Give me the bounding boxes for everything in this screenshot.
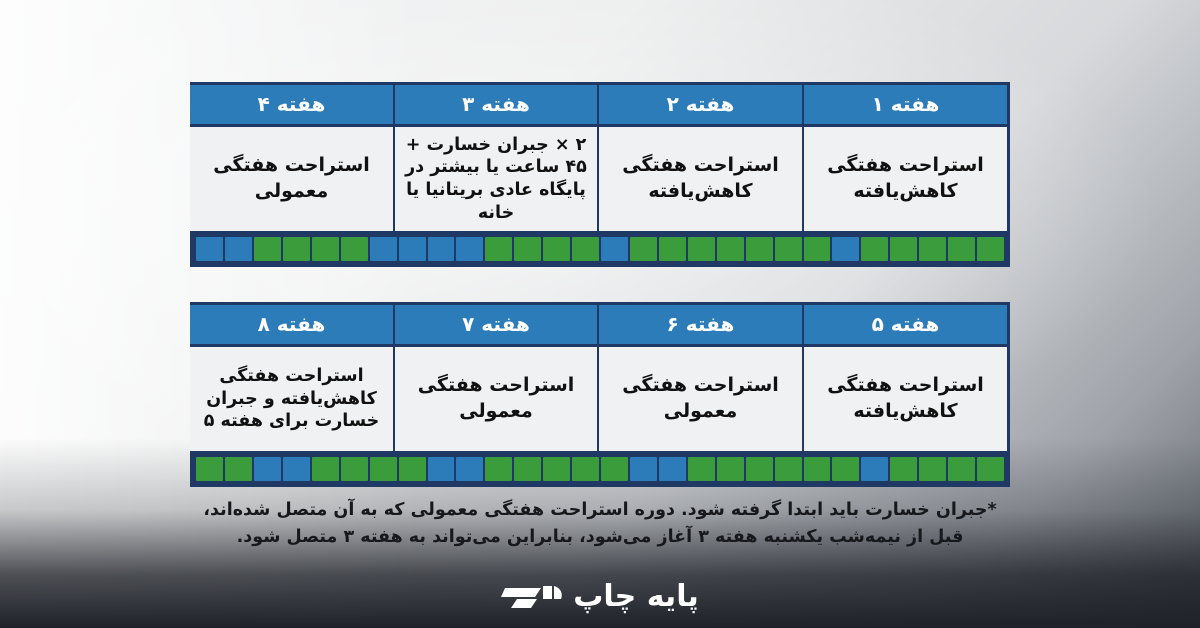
day-cell-work: [485, 237, 512, 261]
week-column-1: هفته ۱ استراحت هفتگی کاهش‌یافته: [802, 85, 1007, 231]
day-cell-rest: [283, 457, 310, 481]
day-cell-work: [543, 457, 570, 481]
day-cell-rest: [861, 457, 888, 481]
day-cell-work: [196, 457, 223, 481]
day-cell-rest: [399, 237, 426, 261]
week-header-8: هفته ۸: [190, 305, 393, 347]
week-header-5: هفته ۵: [804, 305, 1007, 347]
day-cell-work: [775, 457, 802, 481]
week-body-3: ۲ × جبران خسارت + ۴۵ ساعت یا بیشتر در پا…: [395, 127, 597, 231]
day-cell-work: [283, 237, 310, 261]
day-cell-work: [832, 457, 859, 481]
week-body-2: استراحت هفتگی کاهش‌یافته: [599, 127, 802, 231]
day-cell-work: [514, 237, 541, 261]
footnote-text: *جبران خسارت باید ابتدا گرفته شود. دوره …: [200, 497, 1000, 551]
week-column-7: هفته ۷ استراحت هفتگی معمولی: [393, 305, 597, 451]
week-body-1: استراحت هفتگی کاهش‌یافته: [804, 127, 1007, 231]
day-cell-rest: [196, 237, 223, 261]
day-cell-work: [948, 457, 975, 481]
week-header-1: هفته ۱: [804, 85, 1007, 127]
day-cell-rest: [225, 237, 252, 261]
day-cell-work: [514, 457, 541, 481]
weeks-1-4-table: هفته ۱ استراحت هفتگی کاهش‌یافته هفته ۲ ا…: [190, 82, 1010, 267]
day-cell-work: [341, 237, 368, 261]
day-cell-work: [601, 457, 628, 481]
day-cell-work: [746, 237, 773, 261]
week-header-6: هفته ۶: [599, 305, 802, 347]
day-cell-work: [775, 237, 802, 261]
week-column-3: هفته ۳ ۲ × جبران خسارت + ۴۵ ساعت یا بیشت…: [393, 85, 597, 231]
day-cell-work: [977, 237, 1004, 261]
day-cell-work: [948, 237, 975, 261]
day-cell-work: [341, 457, 368, 481]
day-cell-work: [746, 457, 773, 481]
day-cell-work: [977, 457, 1004, 481]
day-cell-work: [312, 237, 339, 261]
day-cell-rest: [428, 237, 455, 261]
day-strip-weeks-5-8: [193, 451, 1007, 484]
logo-text: پایه چاپ: [573, 582, 698, 612]
speed-swoosh-icon: [501, 582, 563, 612]
day-cell-work: [370, 457, 397, 481]
brand-logo: پایه چاپ: [0, 582, 1200, 612]
day-cell-work: [572, 457, 599, 481]
day-cell-rest: [832, 237, 859, 261]
week-column-5: هفته ۵ استراحت هفتگی کاهش‌یافته: [802, 305, 1007, 451]
week-body-7: استراحت هفتگی معمولی: [395, 347, 597, 451]
day-cell-rest: [601, 237, 628, 261]
weeks-5-8-table: هفته ۵ استراحت هفتگی کاهش‌یافته هفته ۶ ا…: [190, 302, 1010, 487]
week-column-2: هفته ۲ استراحت هفتگی کاهش‌یافته: [597, 85, 802, 231]
day-cell-rest: [254, 457, 281, 481]
day-cell-work: [485, 457, 512, 481]
week-body-4: استراحت هفتگی معمولی: [190, 127, 393, 231]
day-cell-work: [919, 237, 946, 261]
day-cell-work: [688, 237, 715, 261]
day-cell-work: [543, 237, 570, 261]
week-column-4: هفته ۴ استراحت هفتگی معمولی: [190, 85, 393, 231]
week-body-5: استراحت هفتگی کاهش‌یافته: [804, 347, 1007, 451]
week-header-2: هفته ۲: [599, 85, 802, 127]
day-cell-work: [659, 237, 686, 261]
day-cell-work: [890, 457, 917, 481]
day-strip-weeks-1-4: [193, 231, 1007, 264]
day-cell-work: [717, 457, 744, 481]
week-grid: هفته ۱ استراحت هفتگی کاهش‌یافته هفته ۲ ا…: [193, 85, 1007, 231]
week-body-8: استراحت هفتگی کاهش‌یافته و جبران خسارت ب…: [190, 347, 393, 451]
week-header-7: هفته ۷: [395, 305, 597, 347]
day-cell-rest: [659, 457, 686, 481]
day-cell-work: [312, 457, 339, 481]
week-body-6: استراحت هفتگی معمولی: [599, 347, 802, 451]
day-cell-work: [254, 237, 281, 261]
day-cell-work: [890, 237, 917, 261]
day-cell-work: [630, 237, 657, 261]
week-header-3: هفته ۳: [395, 85, 597, 127]
day-cell-work: [717, 237, 744, 261]
week-column-6: هفته ۶ استراحت هفتگی معمولی: [597, 305, 802, 451]
day-cell-rest: [428, 457, 455, 481]
day-cell-work: [804, 457, 831, 481]
week-grid: هفته ۵ استراحت هفتگی کاهش‌یافته هفته ۶ ا…: [193, 305, 1007, 451]
poster-canvas: هفته ۱ استراحت هفتگی کاهش‌یافته هفته ۲ ا…: [0, 0, 1200, 628]
day-cell-work: [225, 457, 252, 481]
day-cell-rest: [456, 457, 483, 481]
week-header-4: هفته ۴: [190, 85, 393, 127]
day-cell-work: [688, 457, 715, 481]
day-cell-work: [399, 457, 426, 481]
day-cell-rest: [370, 237, 397, 261]
day-cell-rest: [630, 457, 657, 481]
day-cell-work: [572, 237, 599, 261]
day-cell-rest: [456, 237, 483, 261]
day-cell-work: [861, 237, 888, 261]
week-column-8: هفته ۸ استراحت هفتگی کاهش‌یافته و جبران …: [190, 305, 393, 451]
day-cell-work: [804, 237, 831, 261]
day-cell-work: [919, 457, 946, 481]
